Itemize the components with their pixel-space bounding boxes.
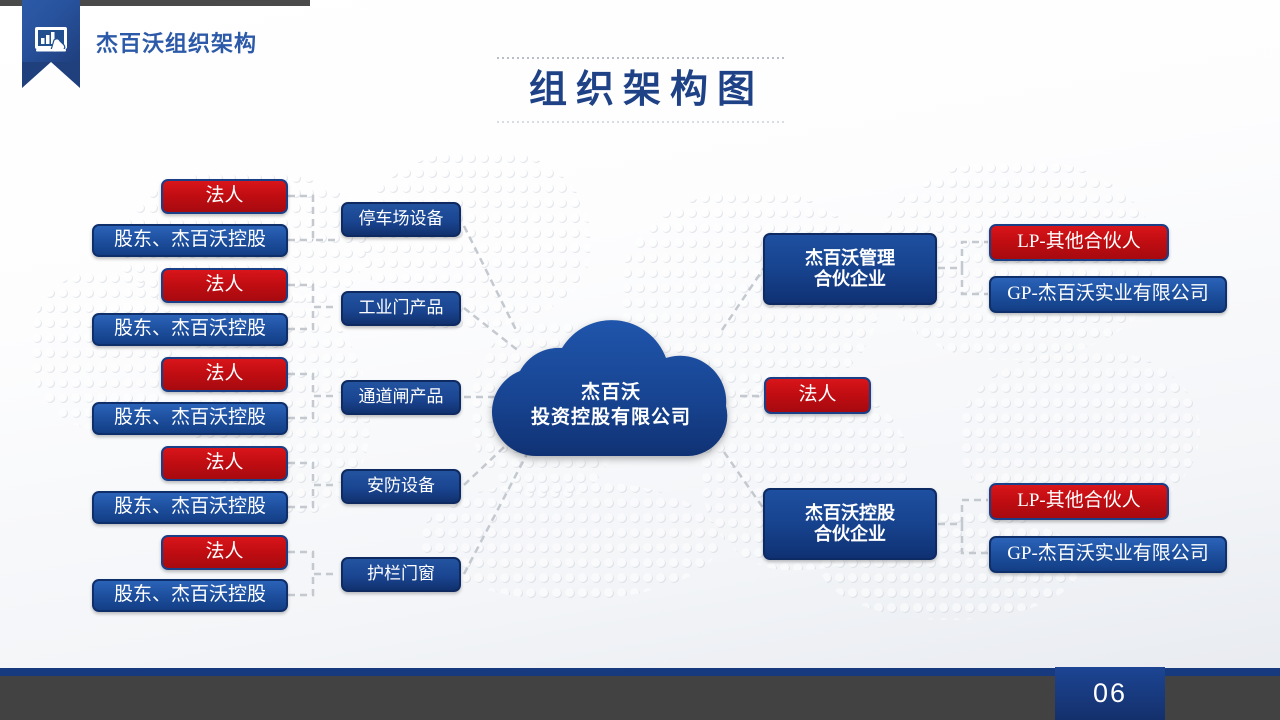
presentation-chart-hand-icon [34, 26, 68, 52]
product-box-security[interactable]: 安防设备 [341, 469, 461, 504]
gp-jiebaiwo-industry-box-2[interactable]: GP-杰百沃实业有限公司 [989, 536, 1227, 573]
legal-person-box-center-right[interactable]: 法人 [764, 377, 871, 414]
legal-person-box-1[interactable]: 法人 [161, 179, 288, 214]
product-box-industrial-door[interactable]: 工业门产品 [341, 291, 461, 326]
slide-title-block: 组织架构图 [497, 57, 787, 123]
partnership-management-box[interactable]: 杰百沃管理 合伙企业 [763, 233, 937, 305]
partnership-holding-line2: 合伙企业 [814, 524, 886, 545]
center-cloud-line1: 杰百沃 [466, 380, 756, 405]
legal-person-box-3[interactable]: 法人 [161, 357, 288, 392]
product-box-fence-door-window[interactable]: 护栏门窗 [341, 557, 461, 592]
gp-jiebaiwo-industry-box-1[interactable]: GP-杰百沃实业有限公司 [989, 276, 1227, 313]
shareholder-box-1[interactable]: 股东、杰百沃控股 [92, 224, 288, 257]
shareholder-box-3[interactable]: 股东、杰百沃控股 [92, 402, 288, 435]
partnership-management-line1: 杰百沃管理 [805, 248, 895, 269]
page-number-badge: 06 [1055, 667, 1165, 720]
partnership-management-line2: 合伙企业 [814, 269, 886, 290]
shareholder-box-4[interactable]: 股东、杰百沃控股 [92, 491, 288, 524]
partnership-holding-box[interactable]: 杰百沃控股 合伙企业 [763, 488, 937, 560]
slide-title: 组织架构图 [497, 69, 787, 112]
title-dotted-rule-top [497, 57, 787, 60]
header-banner [22, 0, 80, 62]
center-cloud-line2: 投资控股有限公司 [466, 405, 756, 430]
center-cloud-label: 杰百沃 投资控股有限公司 [466, 380, 756, 430]
title-dotted-rule-bottom [497, 121, 787, 123]
page-number: 06 [1093, 678, 1127, 709]
page-title: 杰百沃组织架构 [96, 26, 257, 58]
partnership-holding-line1: 杰百沃控股 [805, 503, 895, 524]
product-box-gate[interactable]: 通道闸产品 [341, 380, 461, 415]
legal-person-box-2[interactable]: 法人 [161, 268, 288, 303]
header-accent-bar-right [80, 0, 310, 6]
product-box-parking[interactable]: 停车场设备 [341, 202, 461, 237]
center-cloud-node[interactable]: 杰百沃 投资控股有限公司 [466, 296, 756, 464]
lp-other-partners-box-2[interactable]: LP-其他合伙人 [989, 483, 1169, 520]
legal-person-box-5[interactable]: 法人 [161, 535, 288, 570]
shareholder-box-5[interactable]: 股东、杰百沃控股 [92, 579, 288, 612]
lp-other-partners-box-1[interactable]: LP-其他合伙人 [989, 224, 1169, 261]
shareholder-box-2[interactable]: 股东、杰百沃控股 [92, 313, 288, 346]
legal-person-box-4[interactable]: 法人 [161, 446, 288, 481]
